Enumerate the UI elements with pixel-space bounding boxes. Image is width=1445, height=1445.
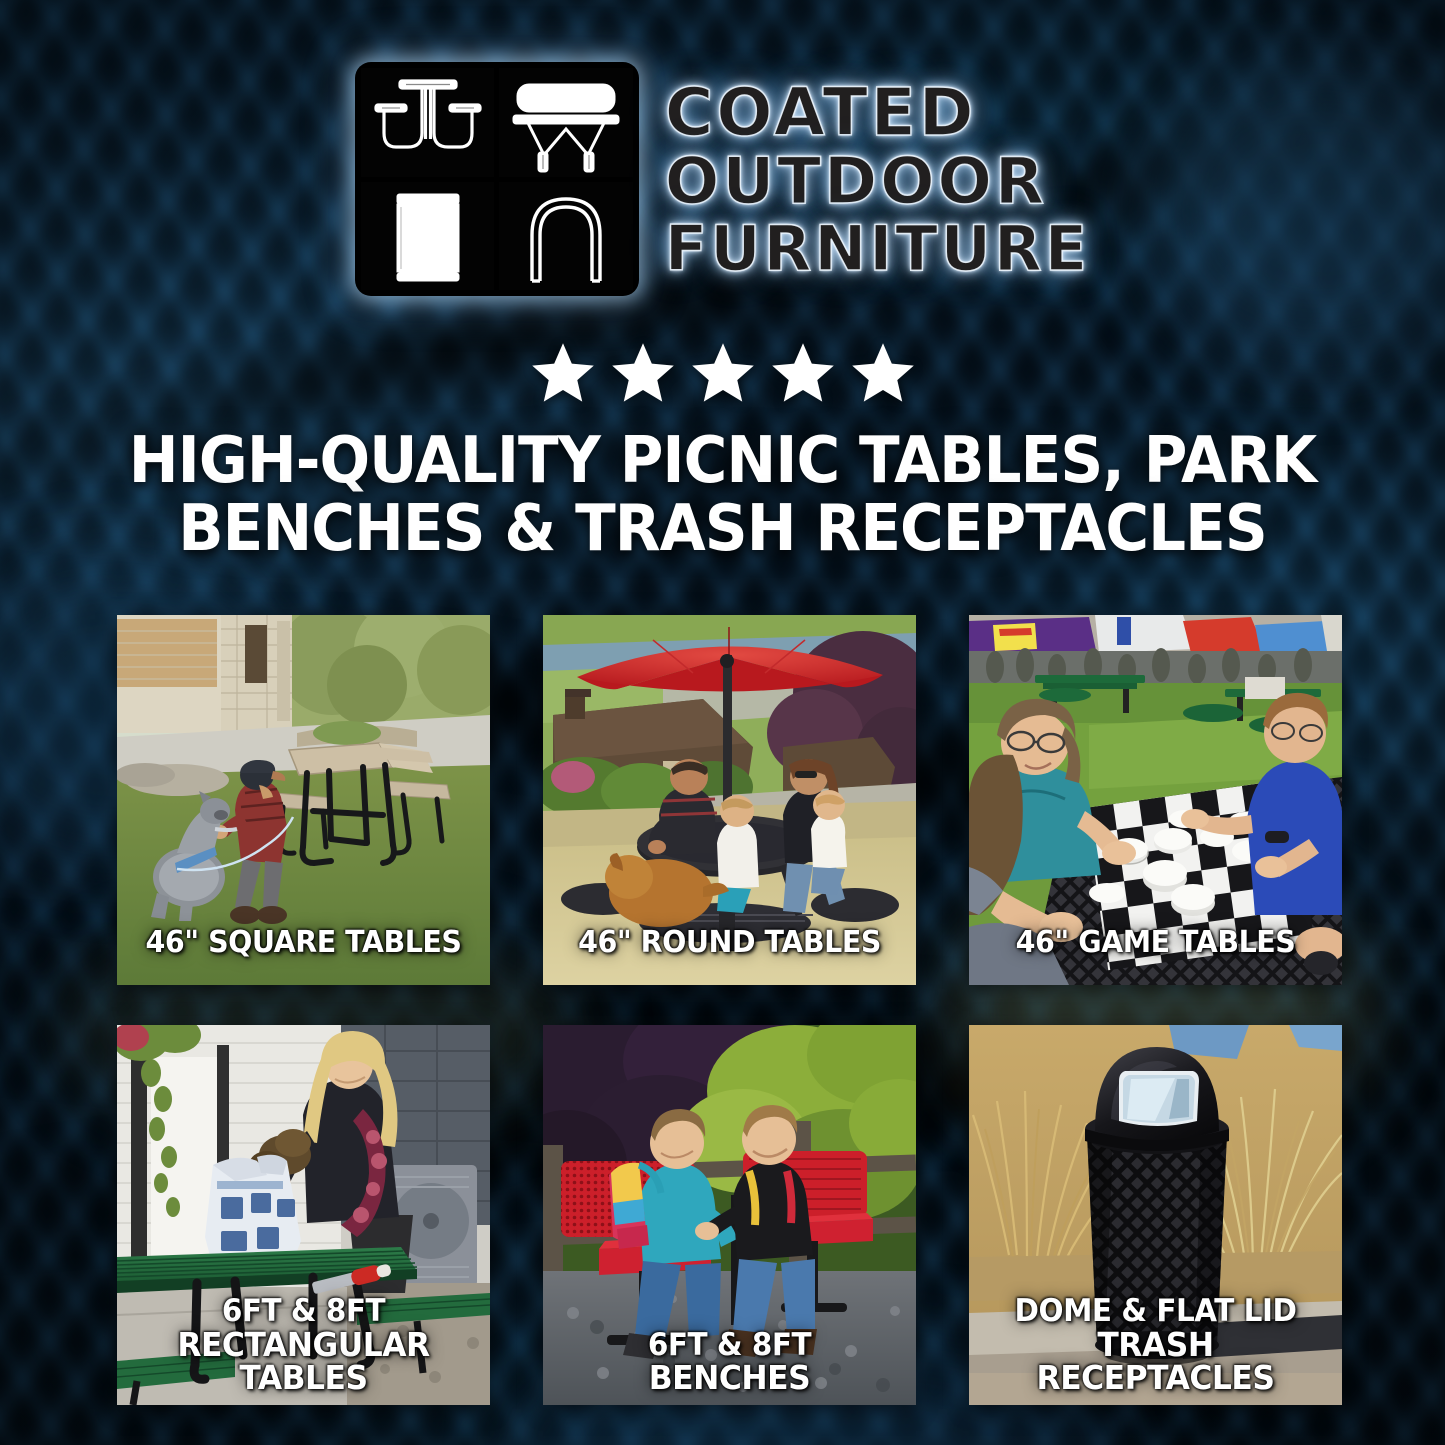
- product-caption-round-tables: 46" ROUND TABLES: [552, 928, 906, 959]
- star-icon: [770, 340, 836, 406]
- brand-logo: COATED OUTDOOR FURNITURE: [0, 62, 1445, 296]
- logo-icon-grid: [355, 62, 639, 296]
- trash-receptacle-icon: [361, 182, 495, 291]
- product-card-rectangular-tables[interactable]: 6FT & 8FT RECTANGULAR TABLES: [117, 1025, 490, 1405]
- star-icon: [850, 340, 916, 406]
- caption-line-2: BENCHES: [552, 1361, 906, 1395]
- headline-line-2: BENCHES & TRASH RECEPTACLES: [106, 496, 1338, 564]
- product-card-trash-receptacles[interactable]: DOME & FLAT LID TRASH RECEPTACLES: [969, 1025, 1342, 1405]
- star-rating: [0, 340, 1445, 406]
- caption-line-2: RECTANGULAR TABLES: [126, 1328, 480, 1395]
- brand-word-line-1: COATED: [665, 81, 977, 145]
- caption-line-1: 6FT & 8FT: [648, 1327, 811, 1363]
- bench-table-side-icon: [499, 68, 633, 177]
- star-icon: [610, 340, 676, 406]
- product-caption-rectangular-tables: 6FT & 8FT RECTANGULAR TABLES: [126, 1296, 480, 1395]
- brand-word-line-3: FURNITURE: [665, 219, 1090, 279]
- product-caption-game-tables: 46" GAME TABLES: [978, 928, 1332, 959]
- headline-line-1: HIGH-QUALITY PICNIC TABLES, PARK: [106, 428, 1338, 496]
- caption-line-1: 6FT & 8FT: [222, 1293, 385, 1329]
- brand-word-line-2: OUTDOOR: [665, 151, 1047, 213]
- picnic-table-front-icon: [361, 68, 495, 177]
- product-card-round-tables[interactable]: 46" ROUND TABLES: [543, 615, 916, 985]
- page-headline: HIGH-QUALITY PICNIC TABLES, PARK BENCHES…: [106, 428, 1338, 564]
- product-grid: 46" SQUARE TABLES: [117, 615, 1329, 1405]
- caption-line-1: DOME & FLAT LID: [1015, 1293, 1297, 1329]
- product-caption-square-tables: 46" SQUARE TABLES: [126, 928, 480, 959]
- caption-line-2: TRASH RECEPTACLES: [978, 1328, 1332, 1395]
- product-caption-benches: 6FT & 8FT BENCHES: [552, 1330, 906, 1395]
- brand-wordmark: COATED OUTDOOR FURNITURE: [665, 81, 1090, 279]
- product-caption-trash-receptacles: DOME & FLAT LID TRASH RECEPTACLES: [978, 1296, 1332, 1395]
- star-icon: [690, 340, 756, 406]
- star-icon: [530, 340, 596, 406]
- product-card-game-tables[interactable]: 46" GAME TABLES: [969, 615, 1342, 985]
- arch-bike-rack-icon: [499, 182, 633, 291]
- product-card-square-tables[interactable]: 46" SQUARE TABLES: [117, 615, 490, 985]
- product-card-benches[interactable]: 6FT & 8FT BENCHES: [543, 1025, 916, 1405]
